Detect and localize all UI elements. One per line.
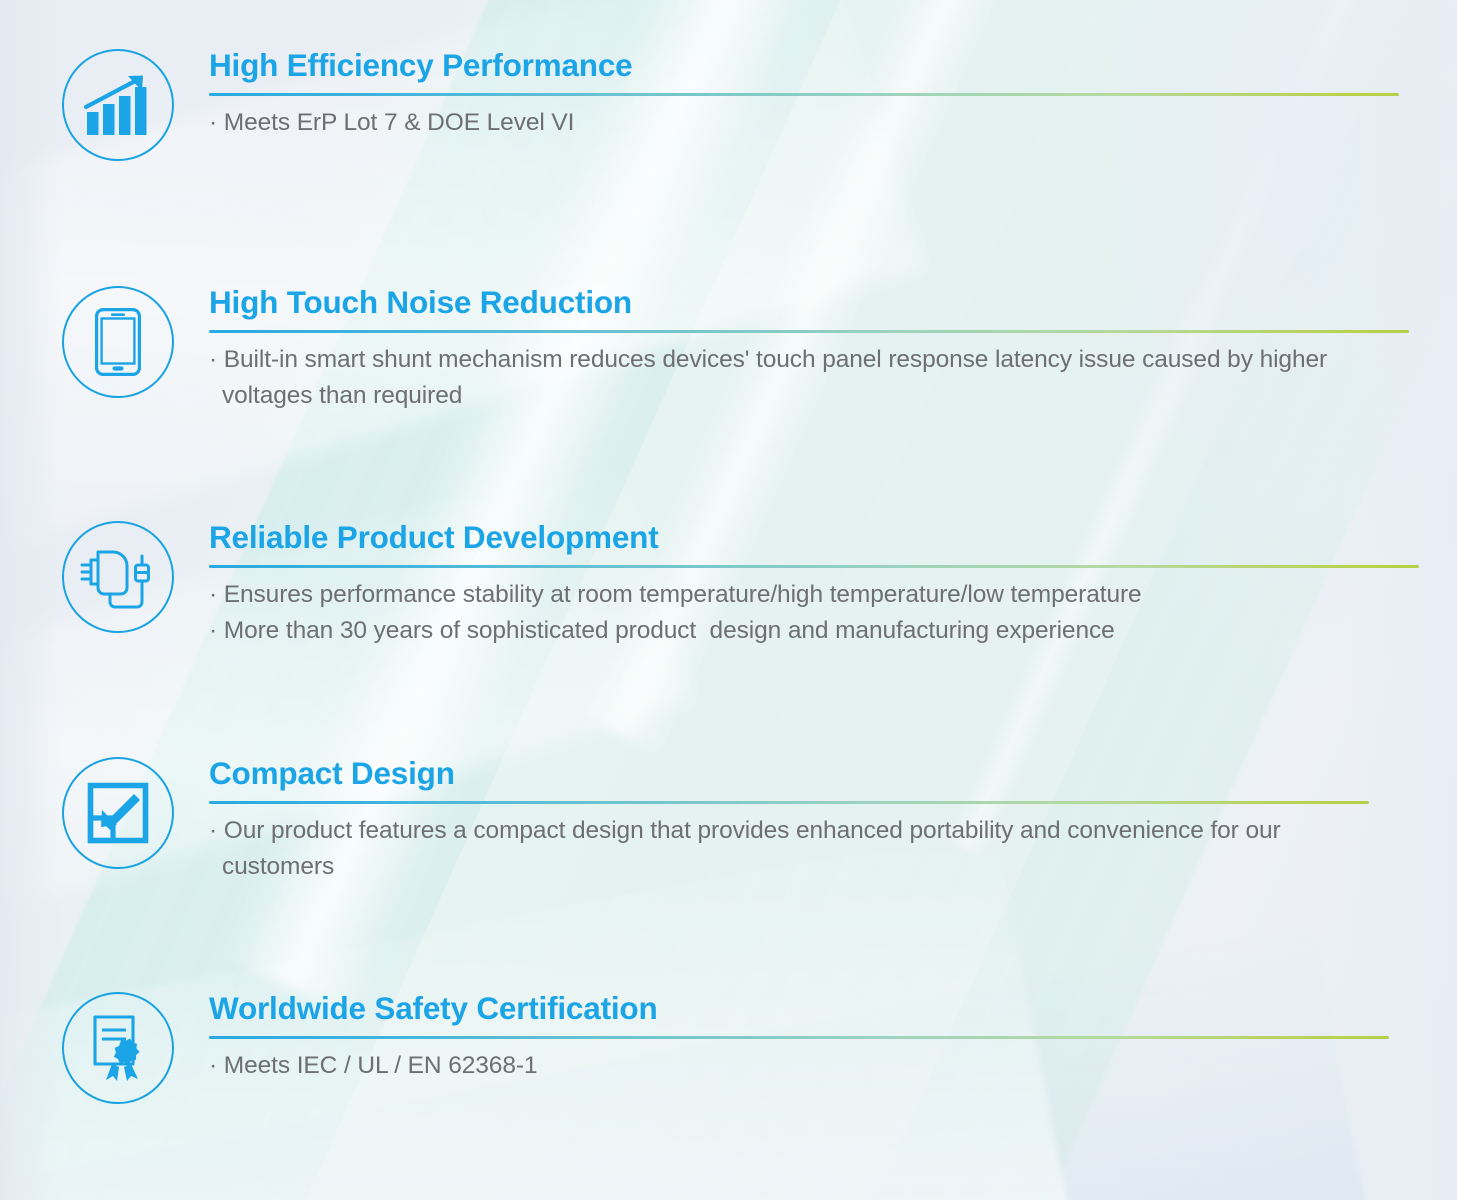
feature-bullet: · Built-in smart shunt mechanism reduces… bbox=[209, 342, 1409, 415]
feature-body: Worldwide Safety Certification · Meets I… bbox=[209, 987, 1389, 1084]
feature-bullet-list: · Built-in smart shunt mechanism reduces… bbox=[209, 342, 1409, 415]
icon-circle-frame bbox=[62, 49, 174, 161]
icon-circle-frame bbox=[62, 521, 174, 633]
feature-body: High Touch Noise Reduction · Built-in sm… bbox=[209, 281, 1409, 414]
feature-item-reliable-product-development: Reliable Product Development · Ensures p… bbox=[0, 516, 1419, 649]
feature-divider-rule bbox=[209, 330, 1409, 333]
compact-resize-icon bbox=[87, 782, 149, 844]
feature-divider-rule bbox=[209, 93, 1399, 96]
icon-circle-frame bbox=[62, 992, 174, 1104]
certificate-seal-icon bbox=[86, 1014, 150, 1082]
icon-circle-frame bbox=[62, 286, 174, 398]
feature-bullet: · Meets IEC / UL / EN 62368-1 bbox=[209, 1048, 1389, 1084]
feature-item-high-efficiency-performance: High Efficiency Performance · Meets ErP … bbox=[0, 44, 1399, 166]
feature-icon-slot bbox=[57, 281, 179, 403]
feature-bullet: · Ensures performance stability at room … bbox=[209, 577, 1419, 613]
feature-bullet: · Our product features a compact design … bbox=[209, 813, 1369, 886]
feature-icon-slot bbox=[57, 987, 179, 1109]
feature-bullet-list: · Our product features a compact design … bbox=[209, 813, 1369, 886]
feature-bullet-list: · Ensures performance stability at room … bbox=[209, 577, 1419, 650]
feature-title: High Touch Noise Reduction bbox=[209, 285, 1409, 319]
feature-item-worldwide-safety-certification: Worldwide Safety Certification · Meets I… bbox=[0, 987, 1389, 1109]
bar-chart-growth-icon bbox=[83, 74, 153, 136]
icon-circle-frame bbox=[62, 757, 174, 869]
feature-bullet-list: · Meets IEC / UL / EN 62368-1 bbox=[209, 1048, 1389, 1084]
feature-bullet: · Meets ErP Lot 7 & DOE Level VI bbox=[209, 105, 1399, 141]
feature-divider-rule bbox=[209, 1036, 1389, 1039]
feature-body: Compact Design · Our product features a … bbox=[209, 752, 1369, 885]
feature-icon-slot bbox=[57, 44, 179, 166]
feature-bullet-list: · Meets ErP Lot 7 & DOE Level VI bbox=[209, 105, 1399, 141]
feature-body: High Efficiency Performance · Meets ErP … bbox=[209, 44, 1399, 141]
feature-title: Reliable Product Development bbox=[209, 520, 1419, 554]
feature-icon-slot bbox=[57, 752, 179, 874]
feature-title: Compact Design bbox=[209, 756, 1369, 790]
feature-item-high-touch-noise-reduction: High Touch Noise Reduction · Built-in sm… bbox=[0, 281, 1409, 414]
power-adapter-icon bbox=[79, 541, 157, 613]
feature-title: High Efficiency Performance bbox=[209, 48, 1399, 82]
feature-body: Reliable Product Development · Ensures p… bbox=[209, 516, 1419, 649]
feature-divider-rule bbox=[209, 801, 1369, 804]
feature-highlights-panel: High Efficiency Performance · Meets ErP … bbox=[0, 0, 1457, 1200]
feature-icon-slot bbox=[57, 516, 179, 638]
feature-title: Worldwide Safety Certification bbox=[209, 991, 1389, 1025]
feature-bullet: · More than 30 years of sophisticated pr… bbox=[209, 613, 1419, 649]
feature-divider-rule bbox=[209, 565, 1419, 568]
feature-item-compact-design: Compact Design · Our product features a … bbox=[0, 752, 1369, 885]
smartphone-icon bbox=[95, 308, 141, 376]
